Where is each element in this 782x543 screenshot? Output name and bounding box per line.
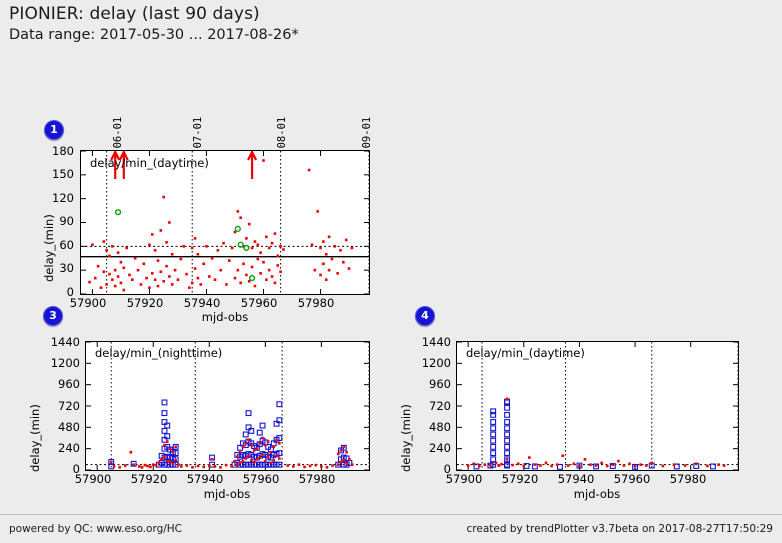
panel-4-plot-area[interactable] (456, 341, 739, 471)
panel-3-inset-label: delay/min_(nighttime) (95, 346, 222, 360)
panel-3-xtick-57960: 57960 (231, 472, 291, 486)
panel-4-xtick-57900: 57900 (434, 472, 494, 486)
panel-4-xtick-57980: 57980 (658, 472, 718, 486)
panel-4-svg (457, 342, 738, 470)
plot-canvas: 1 2017-06-01 2017-07-01 2017-08-01 2017-… (0, 52, 782, 514)
panel-4-ytick-720: 720 (407, 399, 451, 413)
panel-badge-4[interactable]: 4 (415, 306, 435, 326)
panel-1-ytick-150: 150 (44, 167, 74, 181)
panel-1-ytick-90: 90 (44, 214, 74, 228)
panel-3-x-axis-label: mjd-obs (182, 487, 272, 501)
panel-4-xtick-57960: 57960 (602, 472, 662, 486)
panel-3-plot-area[interactable] (85, 341, 370, 471)
panel-1-x-axis-label: mjd-obs (180, 310, 270, 324)
panel-1-xtick-57960: 57960 (229, 296, 289, 310)
panel-1-svg (81, 151, 369, 294)
panel-3-ytick-960: 960 (36, 377, 80, 391)
panel-1-ytick-60: 60 (44, 238, 74, 252)
panel-badge-3[interactable]: 3 (43, 306, 63, 326)
panel-4-xtick-57940: 57940 (546, 472, 606, 486)
panel-1-xtick-57980: 57980 (286, 296, 346, 310)
series-delay-blue-open-square (109, 400, 352, 469)
panel-4-ytick-1200: 1200 (407, 356, 451, 370)
panel-4-ytick-1440: 1440 (407, 335, 451, 349)
panel-1-xtick-57900: 57900 (58, 296, 118, 310)
footer-credit-right: created by trendPlotter v3.7beta on 2017… (467, 523, 774, 535)
page-footer: powered by QC: www.eso.org/HC created by… (0, 514, 782, 543)
panel-3-ytick-720: 720 (36, 399, 80, 413)
series-delay-blue-open-square (474, 399, 715, 469)
panel-3-ytick-480: 480 (36, 420, 80, 434)
panel-3-svg (86, 342, 369, 470)
panel-3-ytick-1440: 1440 (36, 335, 80, 349)
panel-1-inset-label: delay/min_(daytime) (90, 156, 209, 170)
footer-credit-left: powered by QC: www.eso.org/HC (9, 523, 182, 535)
series-delay-red (88, 159, 353, 291)
panel-4-ytick-960: 960 (407, 377, 451, 391)
series-delay-green (116, 210, 255, 281)
panel-3-xtick-57900: 57900 (63, 472, 123, 486)
panel-1-xtick-57920: 57920 (115, 296, 175, 310)
panel-4-xtick-57920: 57920 (490, 472, 550, 486)
panel-3-xtick-57980: 57980 (287, 472, 347, 486)
panel-3-xtick-57940: 57940 (175, 472, 235, 486)
panel-1-xtick-57940: 57940 (172, 296, 232, 310)
page-header: PIONIER: delay (last 90 days) Data range… (0, 0, 782, 52)
panel-1-ytick-30: 30 (44, 261, 74, 275)
panel-1-ytick-180: 180 (44, 144, 74, 158)
panel-3-xtick-57920: 57920 (119, 472, 179, 486)
panel-1-ytick-120: 120 (44, 191, 74, 205)
panel-3-ytick-1200: 1200 (36, 356, 80, 370)
panel-1-plot-area[interactable] (80, 150, 370, 295)
page-title: PIONIER: delay (last 90 days) (9, 4, 260, 24)
panel-4-x-axis-label: mjd-obs (552, 487, 642, 501)
panel-4-ytick-240: 240 (407, 441, 451, 455)
panel-badge-1[interactable]: 1 (44, 120, 64, 140)
panel-3-ytick-240: 240 (36, 441, 80, 455)
panel-4-ytick-480: 480 (407, 420, 451, 434)
page-subtitle: Data range: 2017-05-30 ... 2017-08-26* (9, 27, 299, 43)
panel-4-inset-label: delay/min_(daytime) (466, 346, 585, 360)
